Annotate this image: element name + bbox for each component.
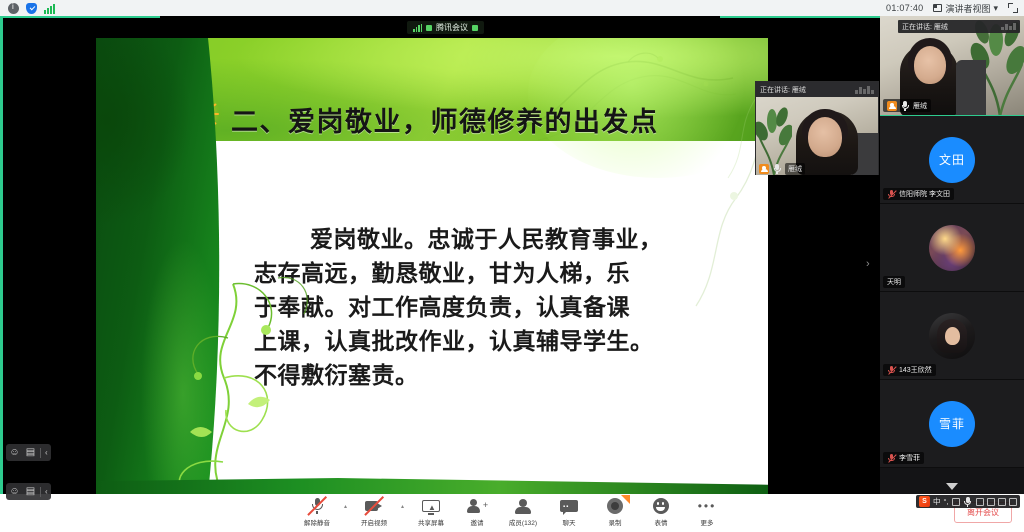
toolbar-label: 表情	[655, 517, 668, 527]
slide-body-line: 志存高远，勤恳敬业，甘为人梯，乐	[254, 257, 752, 291]
menu-icon[interactable]	[1009, 498, 1017, 506]
floating-reaction-bar-2[interactable]: ☺ ▤ ‹	[6, 483, 51, 500]
audio-wave-icon	[1001, 23, 1016, 30]
participant-tile-speaking[interactable]: 正在讲话: 雁绒 雁绒	[880, 16, 1024, 116]
slide-body-line: 不得敷衍塞责。	[254, 359, 752, 393]
toolbar-button-chat[interactable]: ▪▪ 聊天	[546, 497, 592, 527]
ime-mode-label[interactable]: 中	[933, 496, 941, 507]
mic-options-caret[interactable]: ▴	[340, 503, 351, 510]
participant-name-badge: 雁绒	[883, 99, 931, 112]
toolbar-label: 开启视频	[361, 517, 387, 527]
pip-speaker-name: 雁绒	[785, 163, 805, 175]
signal-bars-icon	[44, 3, 56, 14]
participant-name: 天明	[887, 277, 901, 287]
meeting-timer: 01:07:40	[886, 3, 923, 13]
record-icon	[604, 497, 626, 515]
screen-share-border-top-right	[720, 16, 880, 18]
invite-icon: +	[466, 497, 488, 515]
toolbar-button-emoji[interactable]: 表情	[638, 497, 684, 527]
mic-muted-icon	[306, 497, 328, 515]
pip-speaking-label: 正在讲话: 雁绒	[760, 85, 806, 95]
participant-name: 李雪菲	[899, 453, 920, 463]
toolbar-button-video[interactable]: 开启视频	[351, 497, 397, 527]
slide-body-line: 上课，认真批改作业，认真辅导学生。	[254, 325, 752, 359]
participant-name-badge: 李雪菲	[883, 452, 924, 464]
pip-footer: 雁绒	[756, 162, 805, 175]
slide-vine-decor-left	[128, 218, 328, 494]
camera-off-icon	[363, 497, 385, 515]
sogou-logo-icon[interactable]: S	[919, 496, 930, 507]
toolbar-label: 录制	[609, 517, 622, 527]
participant-tile[interactable]: 143王欣然	[880, 292, 1024, 380]
participant-name-badge: 143王欣然	[883, 364, 936, 376]
participant-name: 143王欣然	[899, 365, 932, 375]
toolbox-icon[interactable]	[998, 498, 1006, 506]
layout-icon	[933, 4, 942, 12]
avatar: 文田	[929, 137, 975, 183]
mic-muted-icon	[887, 365, 896, 375]
tile-speaking-label: 正在讲话: 雁绒	[902, 22, 948, 32]
screen-share-border-top-left	[0, 16, 160, 18]
share-screen-icon: ▲	[420, 497, 442, 515]
chevron-left-icon[interactable]: ‹	[44, 487, 49, 496]
emoji-panel-icon[interactable]	[952, 498, 960, 506]
avatar: 雪菲	[929, 401, 975, 447]
chair-back	[956, 60, 986, 116]
punctuation-icon[interactable]: °,	[944, 497, 949, 506]
pip-video-frame: 雁绒	[756, 97, 878, 175]
slide-footer-band	[96, 478, 768, 494]
avatar	[929, 225, 975, 271]
chevron-down-icon: ▾	[993, 3, 998, 14]
toolbar-button-mute[interactable]: 解除静音	[294, 497, 340, 527]
person-badge-icon	[759, 164, 769, 174]
chevron-right-icon[interactable]: ›	[866, 258, 870, 270]
pip-header: 正在讲话: 雁绒	[756, 82, 878, 97]
meeting-toolbar: 解除静音 ▴ 开启视频 ▴ ▲ 共享屏幕 + 邀请 成员(132) ▪▪ 聊天	[0, 494, 1024, 532]
mic-icon	[900, 100, 910, 111]
toolbar-button-members[interactable]: 成员(132)	[500, 497, 546, 527]
floating-speaker-video[interactable]: 正在讲话: 雁绒 雁绒	[755, 81, 879, 175]
meeting-status-pill[interactable]: 腾讯会议	[407, 21, 484, 34]
tile-speaking-banner: 正在讲话: 雁绒	[898, 20, 1020, 33]
ime-toolbar[interactable]: S 中 °,	[916, 495, 1020, 508]
participant-panel[interactable]: 正在讲话: 雁绒 雁绒 文田 信阳师院 李文田 天明 143王欣然	[880, 16, 1024, 494]
meeting-app-name: 腾讯会议	[436, 22, 468, 33]
slide-title: 二、爱岗敬业，师德修养的出发点	[231, 100, 659, 139]
slide-body-line: 爱岗敬业。忠诚于人民教育事业，	[254, 223, 752, 257]
person-badge-icon	[887, 101, 897, 111]
emoji-icon	[650, 497, 672, 515]
toolbar-label: 共享屏幕	[418, 517, 444, 527]
stage-left-letterbox	[3, 34, 96, 494]
share-indicator-icon-2	[472, 25, 478, 31]
shared-screen-stage[interactable]: 二、爱岗敬业，师德修养的出发点 爱岗敬业。忠诚于人民教育事业， 志存高远，勤恳敬…	[0, 16, 880, 494]
mic-icon	[772, 163, 782, 174]
participant-name: 雁绒	[913, 101, 927, 111]
slide-body-text: 爱岗敬业。忠诚于人民教育事业， 志存高远，勤恳敬业，甘为人梯，乐 于奉献。对工作…	[254, 223, 752, 393]
network-bars-icon	[413, 24, 422, 32]
audio-wave-icon	[855, 86, 874, 94]
shield-icon[interactable]	[26, 3, 37, 14]
toolbar-label: 解除静音	[304, 517, 330, 527]
toolbar-label: 成员(132)	[509, 517, 537, 527]
speaker-face	[914, 46, 946, 84]
toolbar-button-record[interactable]: 录制	[592, 497, 638, 527]
avatar	[929, 313, 975, 359]
panel-scroll-down-button[interactable]	[880, 478, 1024, 494]
participant-name: 信阳师院 李文田	[899, 189, 950, 199]
info-icon[interactable]	[8, 3, 19, 14]
screenshot-icon[interactable]	[976, 498, 984, 506]
camera-options-caret[interactable]: ▴	[397, 503, 408, 510]
speaker-face	[808, 117, 842, 157]
chrome-right-group: 01:07:40 演讲者视图 ▾	[886, 0, 1018, 16]
floating-reaction-bar-1[interactable]: ☺ ▤ ‹	[6, 444, 51, 461]
view-mode-label: 演讲者视图	[945, 2, 990, 15]
toolbar-label: 更多	[701, 517, 714, 527]
browser-top-bar: 01:07:40 演讲者视图 ▾	[0, 0, 1024, 16]
slide-body-line: 于奉献。对工作高度负责，认真备课	[254, 291, 752, 325]
emoji-icon[interactable]: ☺	[8, 446, 21, 459]
mic-muted-icon	[887, 453, 896, 463]
chevron-down-icon	[946, 483, 958, 490]
view-mode-selector[interactable]: 演讲者视图 ▾	[933, 2, 998, 15]
chat-icon: ▪▪	[558, 497, 580, 515]
voice-input-icon[interactable]	[963, 496, 973, 507]
toolbar-button-invite[interactable]: + 邀请	[454, 497, 500, 527]
participant-name-badge: 信阳师院 李文田	[883, 188, 954, 200]
divider	[40, 487, 41, 497]
participant-tile[interactable]: 文田 信阳师院 李文田	[880, 116, 1024, 204]
participant-name-badge: 天明	[883, 276, 905, 288]
toolbar-label: 聊天	[563, 517, 576, 527]
translate-icon[interactable]	[987, 498, 995, 506]
more-dots-icon: •••	[696, 497, 718, 515]
chat-icon[interactable]: ▤	[24, 485, 37, 498]
mic-muted-icon	[887, 189, 896, 199]
participant-tile[interactable]: 雪菲 李雪菲	[880, 380, 1024, 468]
divider	[40, 448, 41, 458]
fullscreen-icon[interactable]	[1008, 3, 1018, 13]
share-indicator-icon	[426, 25, 432, 31]
toolbar-button-more[interactable]: ••• 更多	[684, 497, 730, 527]
chevron-left-icon[interactable]: ‹	[44, 448, 49, 457]
chat-icon[interactable]: ▤	[24, 446, 37, 459]
toolbar-button-share-screen[interactable]: ▲ 共享屏幕	[408, 497, 454, 527]
toolbar-label: 邀请	[471, 517, 484, 527]
participant-tile[interactable]: 天明	[880, 204, 1024, 292]
presentation-slide: 二、爱岗敬业，师德修养的出发点 爱岗敬业。忠诚于人民教育事业， 志存高远，勤恳敬…	[96, 38, 768, 494]
emoji-icon[interactable]: ☺	[8, 485, 21, 498]
members-icon	[512, 497, 534, 515]
